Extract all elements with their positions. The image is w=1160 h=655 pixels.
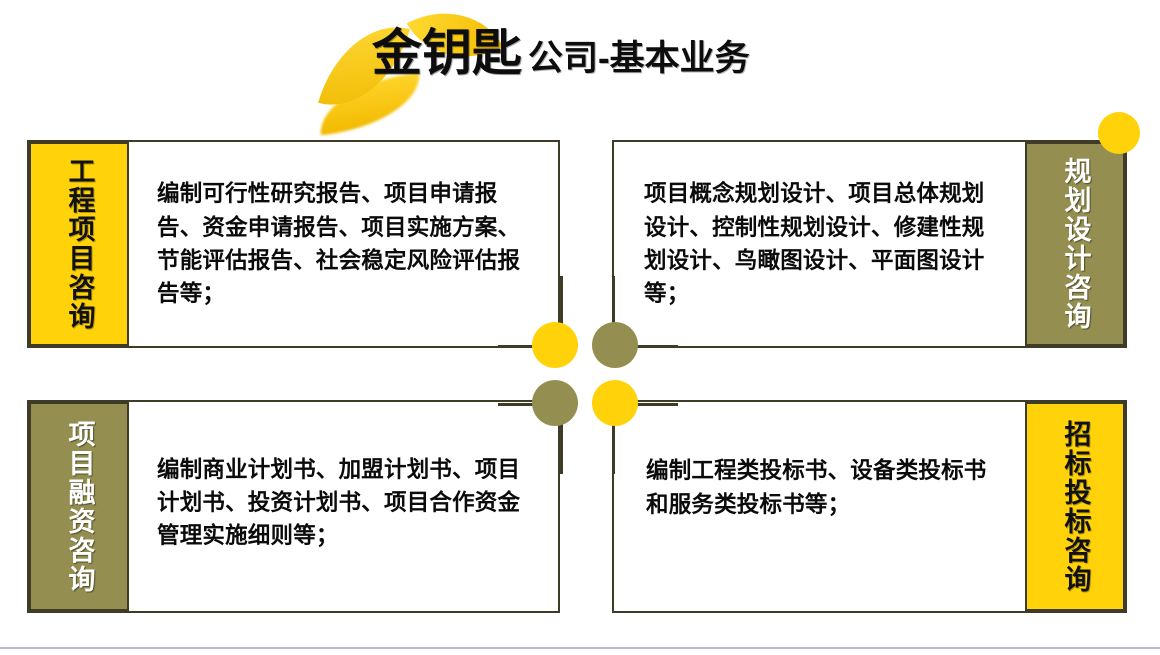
dot-bottom-right-icon xyxy=(592,380,638,426)
card-label-text: 招标投标咨询 xyxy=(1057,420,1092,594)
card-body-text: 编制商业计划书、加盟计划书、项目计划书、投资计划书、项目合作资金管理实施细则等； xyxy=(157,453,536,553)
card-body-text: 项目概念规划设计、项目总体规划设计、控制性规划设计、修建性规划设计、鸟瞰图设计、… xyxy=(644,177,999,310)
page-title: 金钥匙 公司-基本业务 xyxy=(372,28,750,78)
card-label-text: 工程项目咨询 xyxy=(61,157,96,331)
card-project-financing-consulting[interactable]: 项目融资咨询 编制商业计划书、加盟计划书、项目计划书、投资计划书、项目合作资金管… xyxy=(27,400,560,613)
dot-bottom-left-icon xyxy=(532,380,578,426)
card-engineering-project-consulting[interactable]: 工程项目咨询 编制可行性研究报告、项目申请报告、资金申请报告、项目实施方案、节能… xyxy=(27,140,560,348)
card-label-text: 项目融资咨询 xyxy=(61,420,96,594)
dot-top-left-icon xyxy=(532,322,578,368)
card-body-cell: 编制工程类投标书、设备类投标书和服务类投标书等； xyxy=(614,402,1025,611)
slide-header: 金钥匙 公司-基本业务 xyxy=(0,0,1160,130)
slide-canvas: 金钥匙 公司-基本业务 工程项目咨询 编制可行性研究报告、项目申请报告、资金申请… xyxy=(0,0,1160,655)
card-label-bidding-tender-consulting: 招标投标咨询 xyxy=(1025,402,1125,611)
card-label-text: 规划设计咨询 xyxy=(1057,157,1092,331)
card-label-project-financing-consulting: 项目融资咨询 xyxy=(29,402,129,611)
card-body-cell: 项目概念规划设计、项目总体规划设计、控制性规划设计、修建性规划设计、鸟瞰图设计、… xyxy=(614,142,1025,346)
card-body-text: 编制可行性研究报告、项目申请报告、资金申请报告、项目实施方案、节能评估报告、社会… xyxy=(157,177,536,310)
card-planning-design-consulting[interactable]: 项目概念规划设计、项目总体规划设计、控制性规划设计、修建性规划设计、鸟瞰图设计、… xyxy=(612,140,1127,348)
card-body-cell: 编制商业计划书、加盟计划书、项目计划书、投资计划书、项目合作资金管理实施细则等； xyxy=(129,402,558,611)
corner-blob-icon xyxy=(1098,112,1140,154)
card-label-engineering-project-consulting: 工程项目咨询 xyxy=(29,142,129,346)
card-bidding-tender-consulting[interactable]: 编制工程类投标书、设备类投标书和服务类投标书等； 招标投标咨询 xyxy=(612,400,1127,613)
card-label-planning-design-consulting: 规划设计咨询 xyxy=(1025,142,1125,346)
card-body-text: 编制工程类投标书、设备类投标书和服务类投标书等； xyxy=(646,454,991,521)
card-body-cell: 编制可行性研究报告、项目申请报告、资金申请报告、项目实施方案、节能评估报告、社会… xyxy=(129,142,558,346)
page-subtitle: 公司-基本业务 xyxy=(528,41,750,76)
bottom-divider xyxy=(0,647,1160,649)
brand-name: 金钥匙 xyxy=(372,28,522,78)
dot-top-right-icon xyxy=(592,322,638,368)
